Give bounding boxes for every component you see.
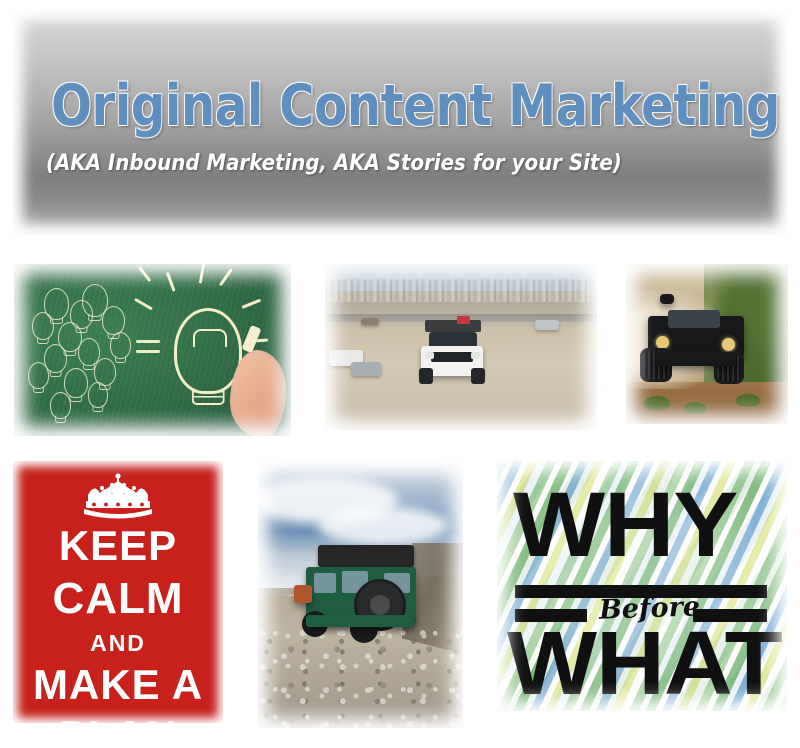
slide-canvas: Original Content Marketing (AKA Inbound … (0, 0, 800, 748)
desert-truck-photo: White Toyota Tacoma pickup with rooftop … (325, 264, 597, 430)
keep-calm-line-3: AND (90, 632, 146, 655)
keep-calm-line-5: PLAN (59, 715, 177, 723)
truck-roof-box (425, 320, 481, 332)
why-before-what-graphic: WHY Before WHAT (497, 461, 787, 711)
keep-calm-line-1: KEEP (59, 525, 177, 567)
hand-with-chalk (230, 350, 286, 436)
why-text: WHY (513, 487, 737, 564)
fj-dust-photo-alt: Black Toyota FJ Cruiser kicking up dust … (626, 264, 627, 265)
green-land-cruiser-photo: Green vintage Toyota Land Cruiser FJ40 w… (258, 463, 463, 728)
page-subtitle: (AKA Inbound Marketing, AKA Stories for … (46, 153, 622, 175)
chalkboard-idea-photo: Green chalkboard with many small lightbu… (14, 264, 291, 436)
fj-cruiser-dust-photo: Black Toyota FJ Cruiser kicking up dust … (626, 264, 788, 424)
crown-icon (72, 473, 164, 519)
rooftop-tent (318, 545, 414, 567)
keep-calm-line-4: MAKE A (33, 664, 203, 706)
keep-calm-poster: KEEP CALM AND MAKE A PLAN (13, 461, 223, 723)
header-banner: Original Content Marketing (AKA Inbound … (13, 10, 787, 235)
keep-calm-line-2: CALM (52, 577, 183, 621)
page-title: Original Content Marketing (51, 78, 780, 135)
what-text: WHAT (507, 627, 782, 703)
